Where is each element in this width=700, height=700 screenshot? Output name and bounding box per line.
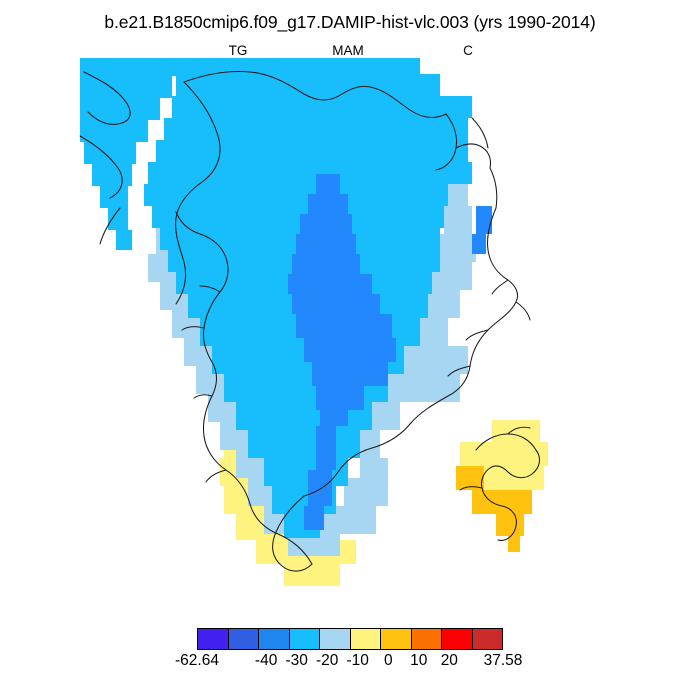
cells-band-neg20-neg10 — [80, 58, 472, 538]
colorbar-segment-5 — [320, 629, 351, 649]
greenland-map — [60, 58, 640, 603]
colorbar-tick-label: -30 — [285, 652, 307, 670]
map-fill-cells — [80, 58, 548, 586]
colorbar-strip — [197, 628, 503, 650]
colorbar-tick-label: -40 — [255, 652, 277, 670]
colorbar-segment-4 — [290, 629, 321, 649]
colorbar-segment-6 — [351, 629, 382, 649]
colorbar-segment-9 — [442, 629, 473, 649]
colorbar-tick-label: 37.58 — [484, 652, 523, 670]
colorbar-tick-label: 0 — [384, 652, 393, 670]
colorbar-tick-labels: -62.64-40-30-20-100102037.58 — [0, 652, 700, 676]
colorbar-tick-label: 20 — [441, 652, 458, 670]
figure-canvas: b.e21.B1850cmip6.f09_g17.DAMIP-hist-vlc.… — [0, 0, 700, 700]
colorbar — [197, 628, 503, 650]
colorbar-tick-label: -20 — [316, 652, 338, 670]
colorbar-segment-7 — [381, 629, 412, 649]
colorbar-segment-2 — [229, 629, 260, 649]
cells-iceland — [456, 420, 548, 552]
colorbar-segment-10 — [473, 629, 503, 649]
colorbar-tick-label: -62.64 — [175, 652, 219, 670]
page-title: b.e21.B1850cmip6.f09_g17.DAMIP-hist-vlc.… — [0, 12, 700, 33]
colorbar-segment-3 — [259, 629, 290, 649]
colorbar-segment-8 — [412, 629, 443, 649]
subtitle-center: MAM — [318, 43, 378, 58]
subtitle-left: TG — [208, 43, 268, 58]
colorbar-segment-1 — [198, 629, 229, 649]
map-plot-area — [60, 58, 640, 603]
subtitle-right: C — [438, 43, 498, 58]
colorbar-tick-label: -10 — [347, 652, 369, 670]
colorbar-tick-label: 10 — [410, 652, 427, 670]
